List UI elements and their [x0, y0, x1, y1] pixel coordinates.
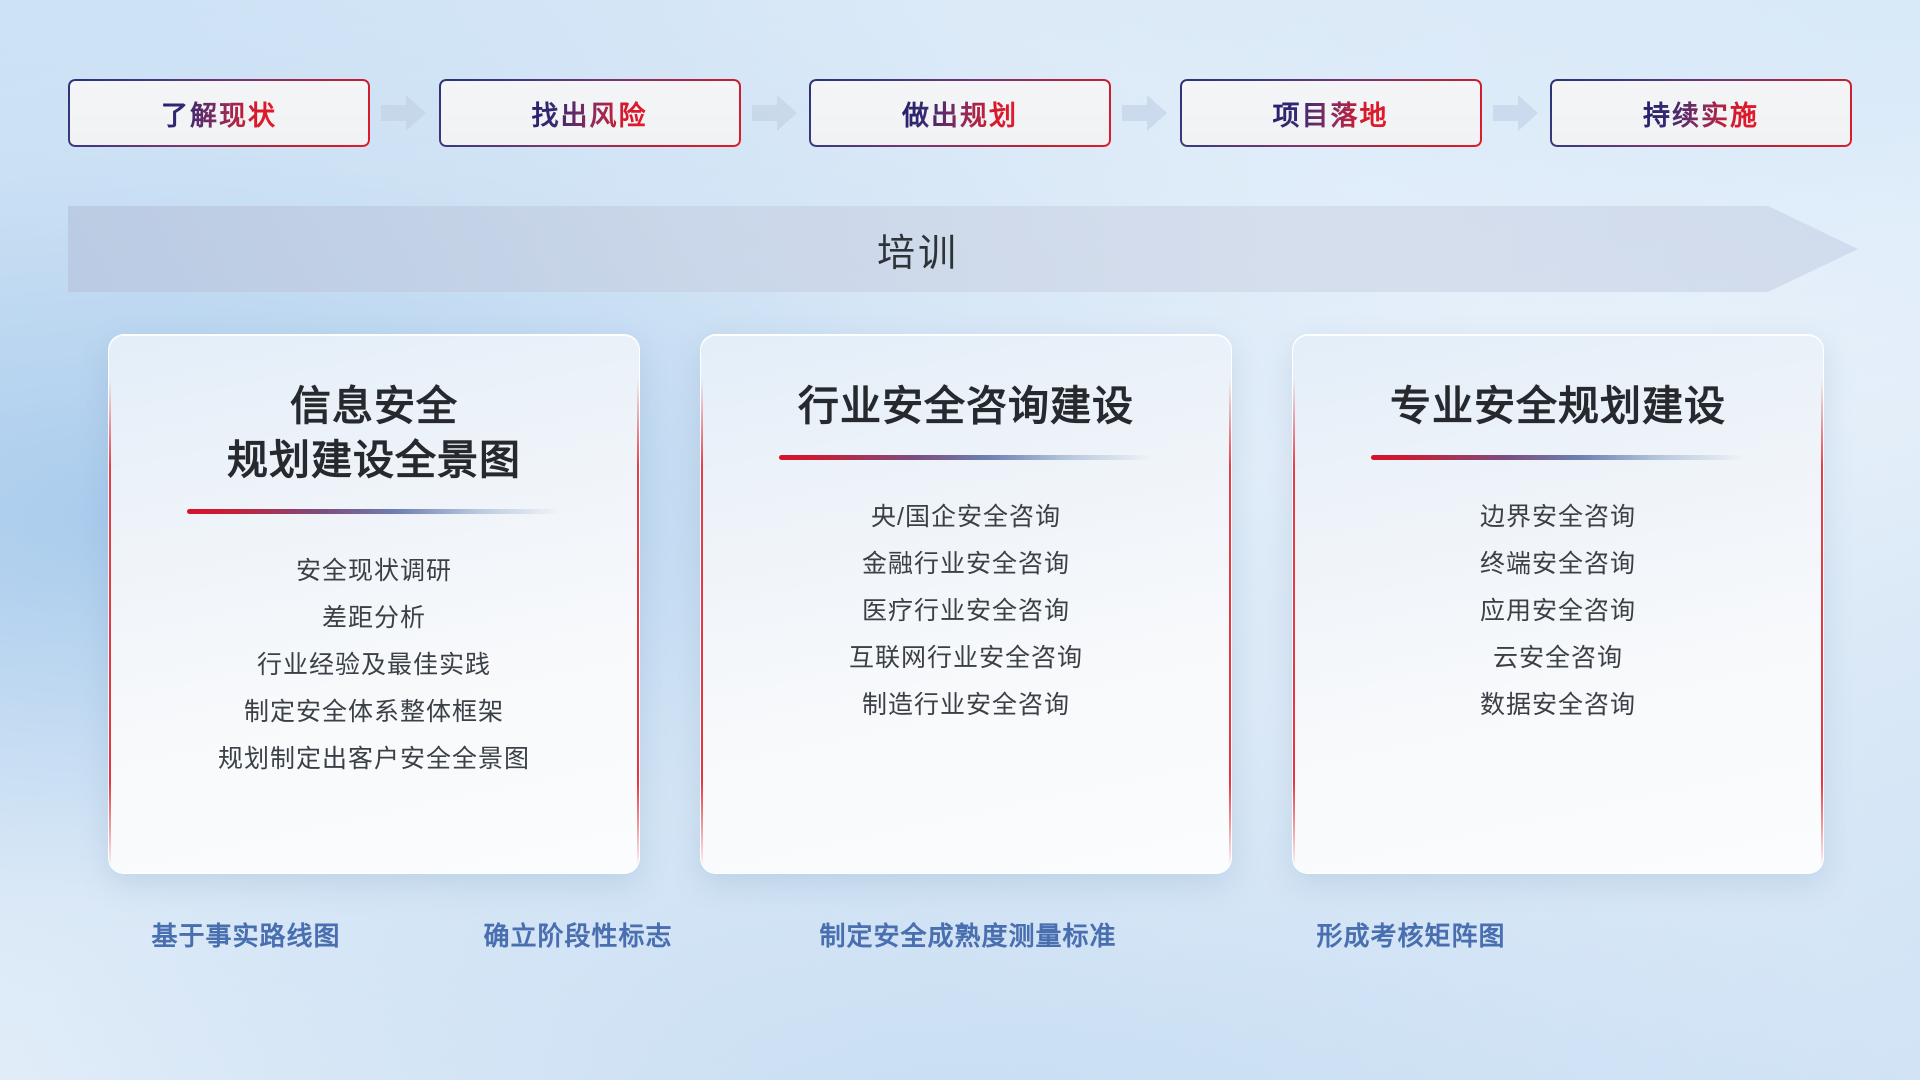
card-list-1: 安全现状调研 差距分析 行业经验及最佳实践 制定安全体系整体框架 规划制定出客户…	[109, 548, 639, 783]
list-item: 规划制定出客户安全全景图	[109, 736, 639, 783]
step-label-4: 项目落地	[1273, 94, 1389, 133]
step-box-2[interactable]: 找出风险	[439, 79, 741, 147]
list-item: 互联网行业安全咨询	[701, 635, 1231, 682]
card-list-3: 边界安全咨询 终端安全咨询 应用安全咨询 云安全咨询 数据安全咨询	[1293, 494, 1823, 729]
list-item: 终端安全咨询	[1293, 541, 1823, 588]
bottom-label-row: 基于事实路线图 确立阶段性标志 制定安全成熟度测量标准 形成考核矩阵图	[0, 916, 1920, 960]
list-item: 应用安全咨询	[1293, 588, 1823, 635]
list-item: 央/国企安全咨询	[701, 494, 1231, 541]
list-item: 医疗行业安全咨询	[701, 588, 1231, 635]
card-industry-consulting[interactable]: 行业安全咨询建设 央/国企安全咨询 金融行业安全咨询 医疗行业安全咨询 互联网行…	[700, 334, 1232, 874]
step-label-5: 持续实施	[1643, 94, 1759, 133]
list-item: 制定安全体系整体框架	[109, 689, 639, 736]
process-step-row: 了解现状 找出风险 做出规划 项目落地	[68, 78, 1852, 148]
arrow-right-icon-4	[1490, 90, 1542, 136]
card-panorama[interactable]: 信息安全 规划建设全景图 安全现状调研 差距分析 行业经验及最佳实践 制定安全体…	[108, 334, 640, 874]
arrow-right-icon-3	[1119, 90, 1171, 136]
arrow-right-icon-2	[749, 90, 801, 136]
bottom-label-3: 制定安全成熟度测量标准	[819, 916, 1116, 953]
list-item: 安全现状调研	[109, 548, 639, 595]
bottom-label-4: 形成考核矩阵图	[1316, 916, 1505, 953]
training-title: 培训	[68, 206, 1768, 292]
bottom-label-1: 基于事实路线图	[151, 916, 340, 953]
card-divider-3	[1371, 455, 1745, 460]
card-list-2: 央/国企安全咨询 金融行业安全咨询 医疗行业安全咨询 互联网行业安全咨询 制造行…	[701, 494, 1231, 729]
list-item: 制造行业安全咨询	[701, 682, 1231, 729]
step-label-1: 了解现状	[161, 94, 277, 133]
card-professional-planning[interactable]: 专业安全规划建设 边界安全咨询 终端安全咨询 应用安全咨询 云安全咨询 数据安全…	[1292, 334, 1824, 874]
card-title-2: 行业安全咨询建设	[774, 379, 1158, 433]
training-banner: 培训	[68, 206, 1858, 292]
step-label-3: 做出规划	[902, 94, 1018, 133]
list-item: 数据安全咨询	[1293, 682, 1823, 729]
card-row: 信息安全 规划建设全景图 安全现状调研 差距分析 行业经验及最佳实践 制定安全体…	[108, 334, 1824, 874]
bottom-label-2: 确立阶段性标志	[483, 916, 672, 953]
card-divider-1	[187, 509, 561, 514]
step-box-4[interactable]: 项目落地	[1180, 79, 1482, 147]
card-title-1: 信息安全 规划建设全景图	[203, 379, 545, 487]
list-item: 边界安全咨询	[1293, 494, 1823, 541]
list-item: 金融行业安全咨询	[701, 541, 1231, 588]
slide-canvas: 了解现状 找出风险 做出规划 项目落地	[0, 0, 1920, 1080]
step-box-3[interactable]: 做出规划	[809, 79, 1111, 147]
step-box-5[interactable]: 持续实施	[1550, 79, 1852, 147]
list-item: 差距分析	[109, 595, 639, 642]
card-title-3: 专业安全规划建设	[1366, 379, 1750, 433]
arrow-right-icon-1	[378, 90, 430, 136]
step-label-2: 找出风险	[532, 94, 648, 133]
card-divider-2	[779, 455, 1153, 460]
step-box-1[interactable]: 了解现状	[68, 79, 370, 147]
list-item: 云安全咨询	[1293, 635, 1823, 682]
list-item: 行业经验及最佳实践	[109, 642, 639, 689]
